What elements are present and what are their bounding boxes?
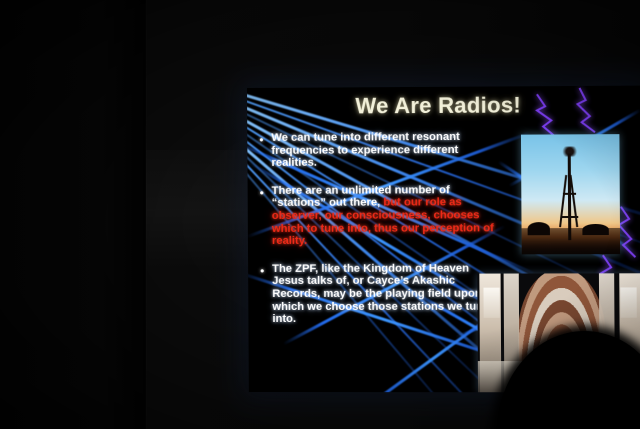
lightning-bolt-icon: [619, 207, 636, 257]
bullet-1-segment-white: We can tune into different resonant freq…: [271, 131, 460, 169]
tower-leg-left: [559, 175, 567, 228]
bullet-text-2: There are an unlimited number of “statio…: [272, 184, 502, 248]
bullet-text-1: We can tune into different resonant freq…: [271, 131, 501, 170]
bullet-text-3: The ZPF, like the Kingdom of Heaven Jesu…: [272, 262, 502, 325]
tower-foreground-bush: [582, 224, 608, 235]
corridor-window: [483, 288, 499, 318]
slide-bullet-list: • We can tune into different resonant fr…: [259, 131, 502, 341]
bullet-item-3: • The ZPF, like the Kingdom of Heaven Je…: [260, 262, 502, 325]
radio-tower-sunset-photo: [521, 134, 620, 254]
bullet-marker-icon: •: [260, 263, 272, 326]
bullet-marker-icon: •: [260, 185, 272, 248]
bullet-marker-icon: •: [259, 132, 271, 170]
corridor-window: [620, 287, 636, 317]
bullet-item-1: • We can tune into different resonant fr…: [259, 131, 501, 170]
wall-left-panel: [0, 0, 146, 429]
slide-title: We Are Radios!: [355, 92, 623, 120]
bullet-item-2: • There are an unlimited number of “stat…: [260, 184, 502, 248]
dark-room-background: We Are Radios! • We can tune into differ…: [0, 0, 640, 429]
tower-leg-right: [570, 175, 579, 228]
tower-foreground-bush: [527, 222, 549, 235]
bullet-3-segment-white: The ZPF, like the Kingdom of Heaven Jesu…: [272, 262, 489, 325]
